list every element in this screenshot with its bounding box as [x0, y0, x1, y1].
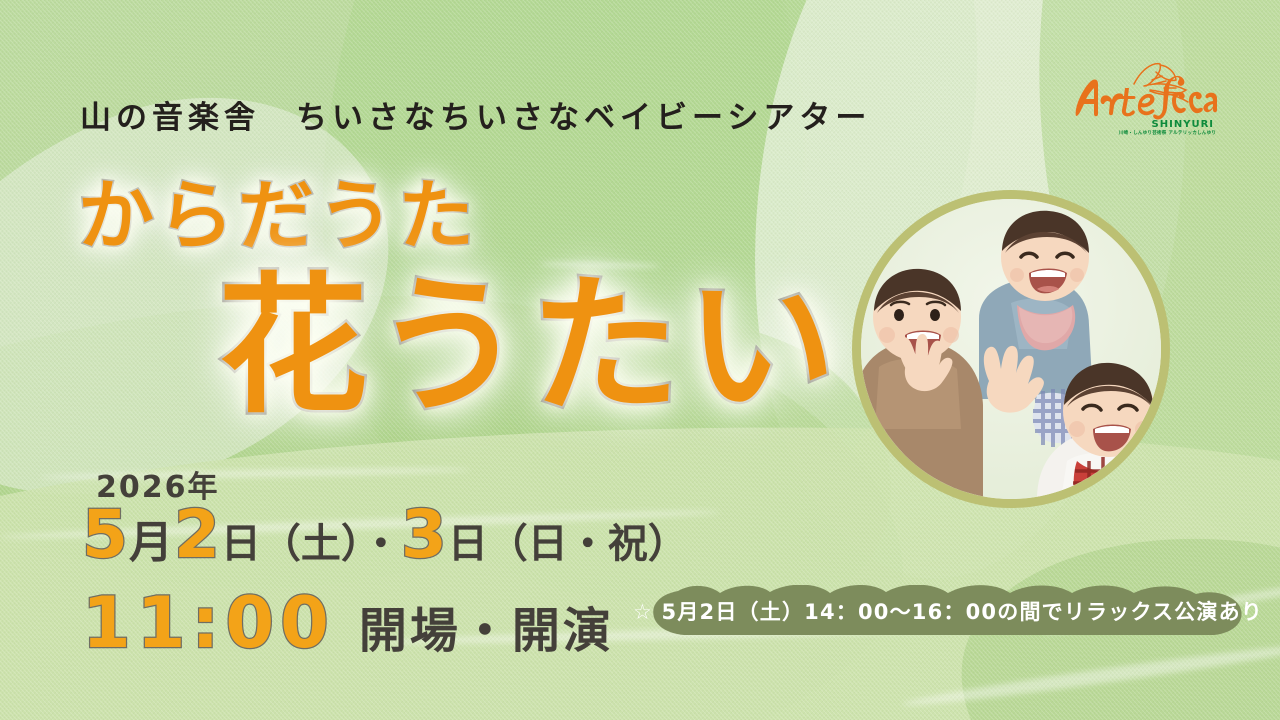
date-month-number: 5	[82, 496, 129, 573]
date-month-kanji: 月	[129, 517, 174, 568]
performance-time: 11:00開場・開演	[82, 588, 614, 658]
date-day2-number: 3	[401, 496, 448, 573]
title-subtitle: からだうた	[78, 178, 478, 254]
date-day1-number: 2	[174, 496, 221, 573]
babies-photo-illustration	[861, 199, 1161, 499]
arte-ricca-logo: SHINYURI 川崎・しんゆり芸術祭 アルテリッカしんゆり	[1068, 60, 1218, 148]
relax-performance-banner: ☆ 5月2日（土）14：00～16：00の間でリラックス公演あり	[648, 585, 1248, 637]
time-label: 開場・開演	[359, 603, 614, 659]
date-day1-suffix: 日（土）・	[221, 521, 401, 567]
performance-date: 5月2日（土）・3日（日・祝）	[82, 502, 688, 568]
logo-subtitle: SHINYURI	[1068, 120, 1218, 130]
arte-ricca-wordmark-icon	[1068, 60, 1218, 122]
time-value: 11:00	[82, 582, 335, 664]
header-organizer-line: 山の音楽舎 ちいさなちいさなベイビーシアター	[80, 92, 871, 137]
logo-subtitle-japanese: 川崎・しんゆり芸術祭 アルテリッカしんゆり	[1080, 131, 1218, 136]
poster-canvas: 山の音楽舎 ちいさなちいさなベイビーシアター SHINYURI	[0, 0, 1280, 720]
date-day2-suffix: 日（日・祝）	[448, 521, 688, 567]
title-main: 花うたい	[218, 272, 842, 422]
babies-photo	[852, 190, 1170, 508]
relax-performance-note: ☆ 5月2日（土）14：00～16：00の間でリラックス公演あり	[648, 585, 1248, 637]
